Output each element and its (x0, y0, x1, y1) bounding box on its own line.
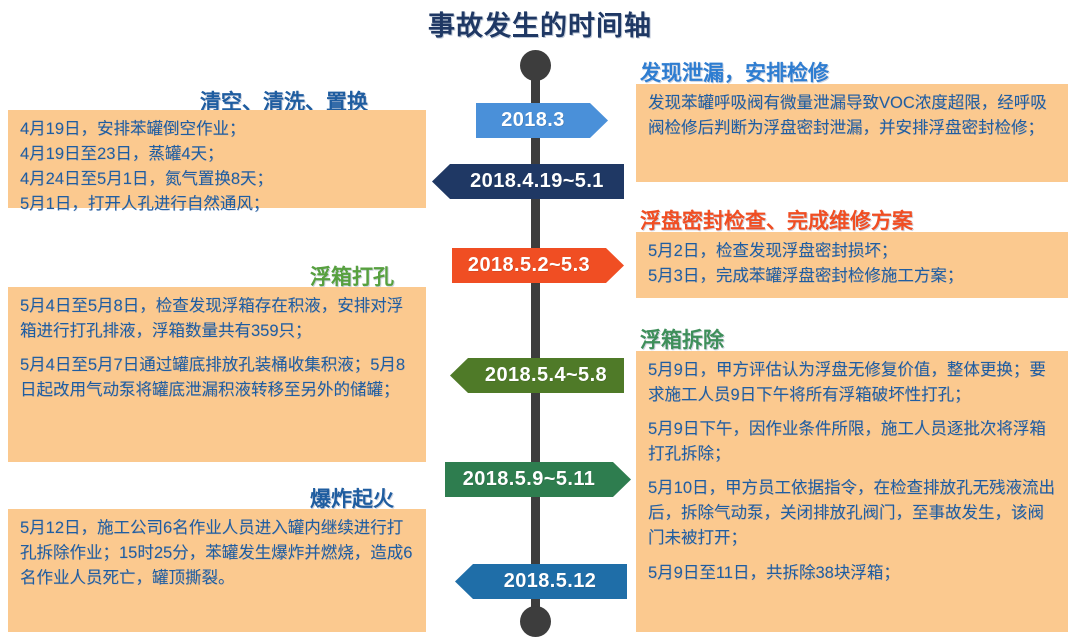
left-box-1-paragraph-1: 4月19日，安排苯罐倒空作业； 4月19日至23日，蒸罐4天； 4月24日至5月… (20, 117, 416, 217)
left-box-1: 4月19日，安排苯罐倒空作业； 4月19日至23日，蒸罐4天； 4月24日至5月… (8, 110, 426, 208)
timeline-badge-2018-5-12[interactable]: 2018.5.12 (455, 564, 627, 599)
left-box-2-paragraph-2: 5月4日至5月7日通过罐底排放孔装桶收集积液；5月8日起改用气动泵将罐底泄漏积液… (20, 353, 416, 403)
page-title: 事故发生的时间轴 (0, 4, 1080, 43)
right-heading-2: 浮盘密封检查、完成维修方案 (640, 205, 913, 235)
right-heading-1: 发现泄漏，安排检修 (640, 57, 829, 87)
timeline-badge-2018-4-19-5-1[interactable]: 2018.4.19~5.1 (432, 164, 624, 199)
right-box-2: 5月2日，检查发现浮盘密封损坏； 5月3日，完成苯罐浮盘密封检修施工方案； (636, 232, 1068, 298)
timeline-infographic: 事故发生的时间轴 清空、清洗、置换 4月19日，安排苯罐倒空作业； 4月19日至… (0, 0, 1080, 643)
right-box-3-paragraph-3: 5月10日，甲方员工依据指令，在检查排放孔无残液流出后，拆除气动泵，关闭排放孔阀… (648, 476, 1058, 551)
right-box-1-paragraph-1: 发现苯罐呼吸阀有微量泄漏导致VOC浓度超限，经呼吸阀检修后判断为浮盘密封泄漏，并… (648, 91, 1058, 141)
right-box-3-paragraph-4: 5月9日至11日，共拆除38块浮箱； (648, 561, 1058, 586)
timeline-badge-2018-5-4-5-8[interactable]: 2018.5.4~5.8 (450, 358, 624, 393)
right-box-2-paragraph-1: 5月2日，检查发现浮盘密封损坏； 5月3日，完成苯罐浮盘密封检修施工方案； (648, 239, 1058, 289)
left-box-3-paragraph-1: 5月12日，施工公司6名作业人员进入罐内继续进行打孔拆除作业；15时25分，苯罐… (20, 516, 416, 591)
timeline-bottom-cap (520, 606, 551, 637)
left-box-3: 5月12日，施工公司6名作业人员进入罐内继续进行打孔拆除作业；15时25分，苯罐… (8, 509, 426, 632)
left-box-2-paragraph-1: 5月4日至5月8日，检查发现浮箱存在积液，安排对浮箱进行打孔排液，浮箱数量共有3… (20, 294, 416, 344)
left-box-2: 5月4日至5月8日，检查发现浮箱存在积液，安排对浮箱进行打孔排液，浮箱数量共有3… (8, 287, 426, 462)
right-box-3: 5月9日，甲方评估认为浮盘无修复价值，整体更换；要求施工人员9日下午将所有浮箱破… (636, 351, 1068, 632)
right-heading-3: 浮箱拆除 (640, 324, 724, 354)
timeline-badge-2018-5-9-5-11[interactable]: 2018.5.9~5.11 (445, 462, 631, 497)
right-box-1: 发现苯罐呼吸阀有微量泄漏导致VOC浓度超限，经呼吸阀检修后判断为浮盘密封泄漏，并… (636, 84, 1068, 182)
timeline-badge-2018-3[interactable]: 2018.3 (476, 103, 608, 138)
right-box-3-paragraph-2: 5月9日下午，因作业条件所限，施工人员逐批次将浮箱打孔拆除； (648, 417, 1058, 467)
timeline-spine (531, 56, 540, 636)
timeline-badge-2018-5-2-5-3[interactable]: 2018.5.2~5.3 (452, 248, 624, 283)
right-box-3-paragraph-1: 5月9日，甲方评估认为浮盘无修复价值，整体更换；要求施工人员9日下午将所有浮箱破… (648, 358, 1058, 408)
